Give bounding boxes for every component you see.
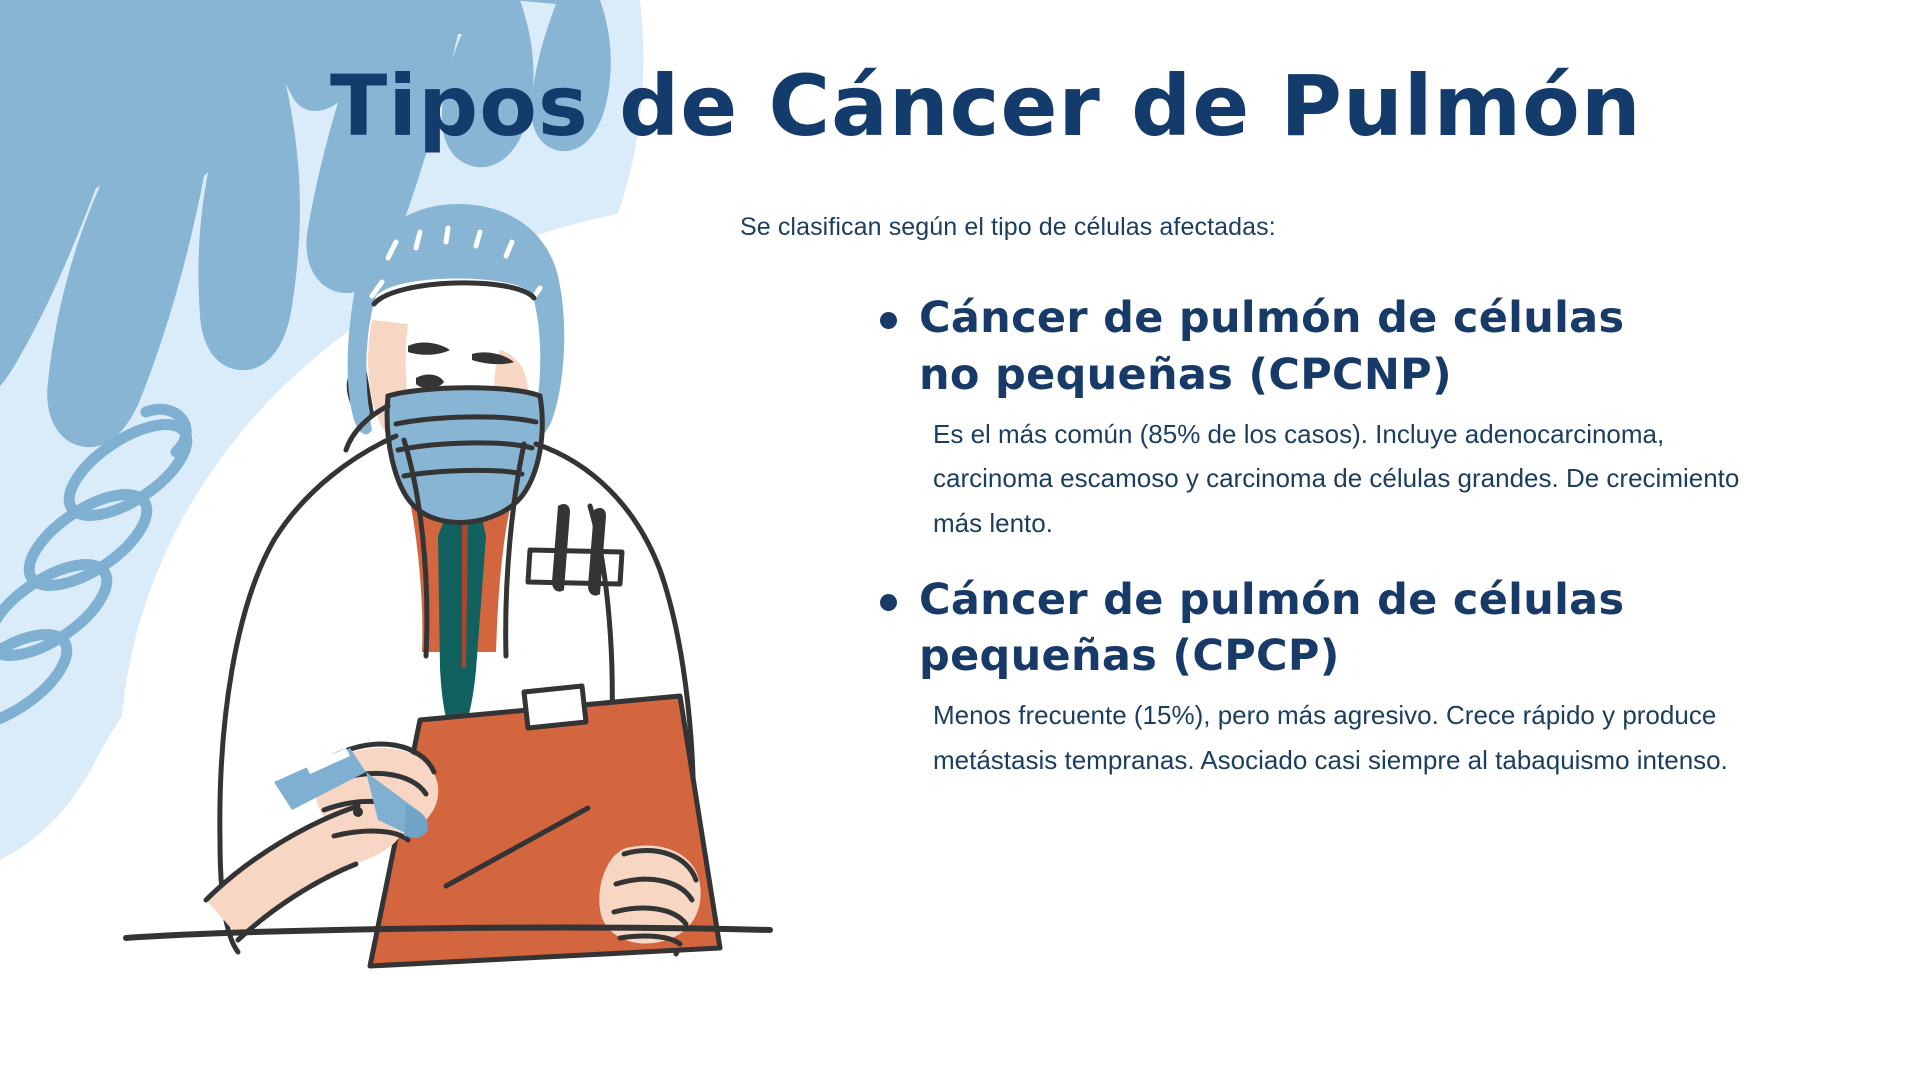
slide-canvas: Tipos de Cáncer de Pulmón Se clasifican …	[0, 0, 1919, 1080]
bullet-heading-1: Cáncer de pulmón de células no pequeñas …	[919, 290, 1699, 404]
clipboard-clip	[524, 686, 586, 728]
bullet-item-1: Cáncer de pulmón de células no pequeñas …	[880, 290, 1880, 546]
doctor-with-clipboard-illustration	[120, 200, 820, 990]
page-title: Tipos de Cáncer de Pulmón	[330, 62, 1640, 150]
subtitle-text: Se clasifican según el tipo de células a…	[740, 213, 1276, 242]
bullet-heading-2: Cáncer de pulmón de células pequeñas (CP…	[919, 572, 1699, 686]
bullet-item-2: Cáncer de pulmón de células pequeñas (CP…	[880, 572, 1880, 783]
bullet-heading-row-1: Cáncer de pulmón de células no pequeñas …	[880, 290, 1880, 404]
bullet-dot-icon	[880, 312, 897, 329]
content-column: Cáncer de pulmón de células no pequeñas …	[880, 290, 1880, 809]
bullet-body-1: Es el más común (85% de los casos). Incl…	[933, 412, 1763, 546]
bullet-body-2: Menos frecuente (15%), pero más agresivo…	[933, 693, 1763, 782]
bullet-heading-row-2: Cáncer de pulmón de células pequeñas (CP…	[880, 572, 1880, 686]
knuckle-dot	[353, 807, 363, 817]
bullet-dot-icon	[880, 594, 897, 611]
